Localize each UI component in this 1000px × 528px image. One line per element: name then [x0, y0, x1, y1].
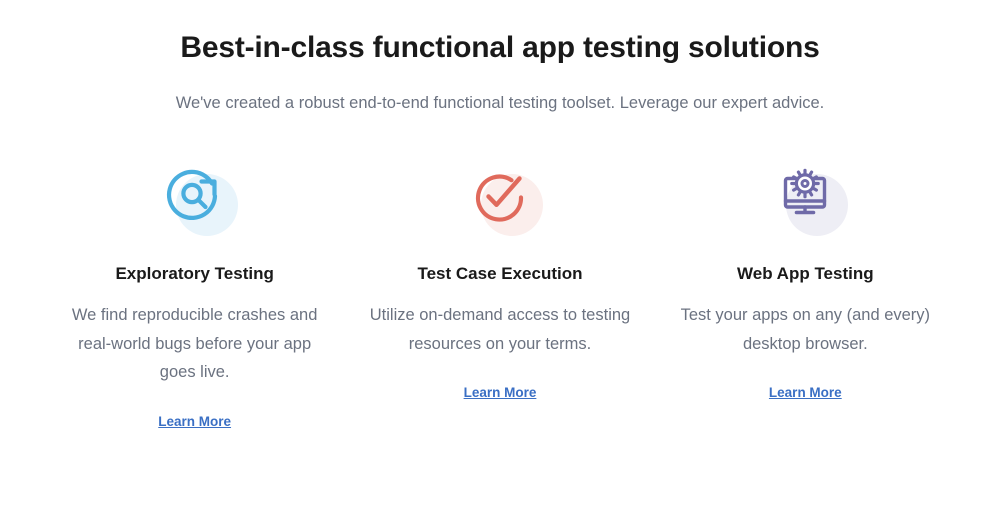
monitor-gear-icon	[762, 158, 848, 234]
card-title: Web App Testing	[737, 264, 874, 284]
card-title: Test Case Execution	[417, 264, 582, 284]
marketing-hero-section: Best-in-class functional app testing sol…	[0, 0, 1000, 528]
page-subtitle: We've created a robust end-to-end functi…	[0, 92, 1000, 115]
feature-cards: Exploratory Testing We find reproducible…	[0, 158, 1000, 429]
check-circle-icon	[457, 158, 543, 234]
card-body: Utilize on-demand access to testing reso…	[366, 301, 634, 358]
card-title: Exploratory Testing	[115, 264, 273, 284]
feature-card-exploratory-testing: Exploratory Testing We find reproducible…	[42, 158, 347, 429]
feature-card-test-case-execution: Test Case Execution Utilize on-demand ac…	[347, 158, 652, 400]
learn-more-link[interactable]: Learn More	[769, 385, 842, 400]
learn-more-link[interactable]: Learn More	[158, 414, 231, 429]
page-title: Best-in-class functional app testing sol…	[0, 30, 1000, 66]
card-body: We find reproducible crashes and real-wo…	[61, 301, 329, 386]
feature-card-web-app-testing: Web App Testing Test your apps on any (a…	[653, 158, 958, 400]
learn-more-link[interactable]: Learn More	[464, 385, 537, 400]
magnifier-refresh-icon	[152, 158, 238, 234]
card-body: Test your apps on any (and every) deskto…	[671, 301, 939, 358]
